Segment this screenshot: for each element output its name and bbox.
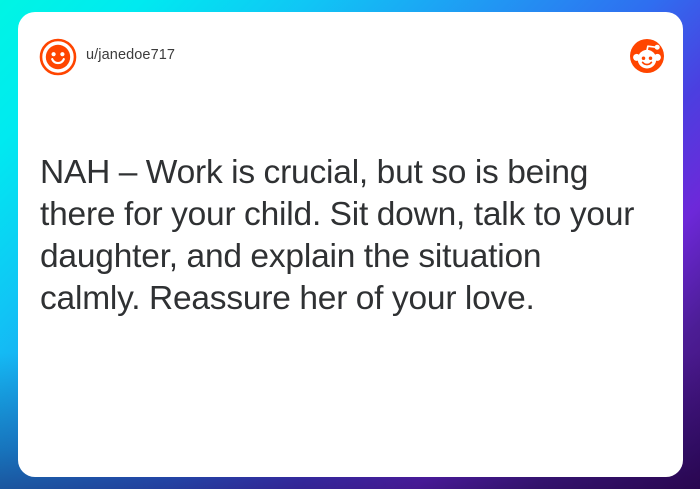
- smiley-face-icon: [39, 38, 77, 76]
- reddit-snoo-icon[interactable]: [629, 38, 665, 74]
- card-header: u/janedoe717: [18, 12, 683, 96]
- gradient-background: u/janedoe717 NAH – Work is crucial, but …: [0, 0, 700, 489]
- username-label: u/janedoe717: [86, 47, 175, 63]
- reddit-comment-card: u/janedoe717 NAH – Work is crucial, but …: [18, 12, 683, 477]
- comment-text: NAH – Work is crucial, but so is being t…: [40, 152, 640, 320]
